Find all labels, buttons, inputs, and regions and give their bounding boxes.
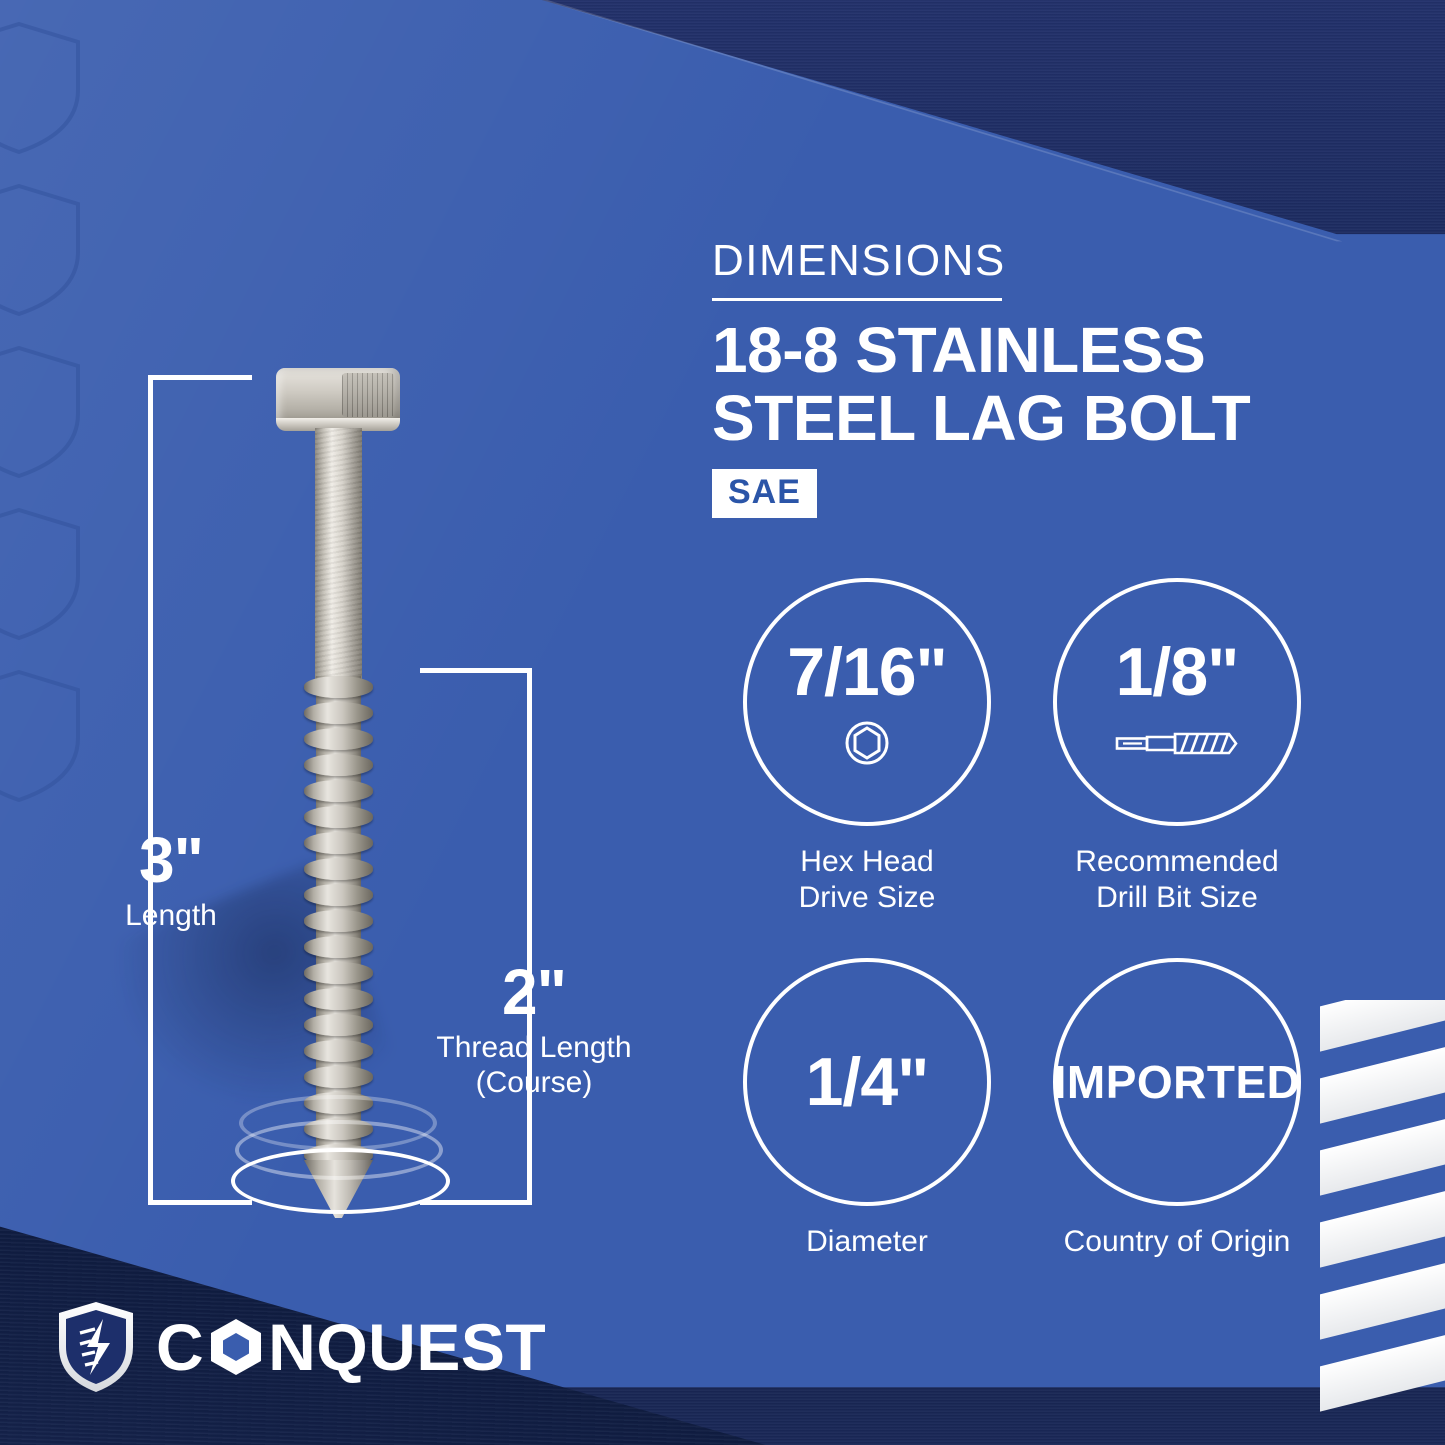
spec-circle: 7/16" <box>743 578 991 826</box>
product-title-line2: STEEL LAG BOLT <box>712 385 1312 453</box>
tip-highlight-rings <box>231 1095 446 1235</box>
shield-watermark-icon <box>0 504 84 644</box>
spec-recommended-drill-bit-size: 1/8" <box>1022 578 1332 916</box>
shield-watermark-icon <box>0 342 84 482</box>
shield-watermark-pattern <box>0 18 84 828</box>
spec-circle: IMPORTED <box>1053 958 1301 1206</box>
hex-socket-icon <box>844 720 890 766</box>
spec-caption-line1: Diameter <box>712 1224 1022 1260</box>
spec-value: IMPORTED <box>1054 1059 1301 1105</box>
brand-logo: C NQUEST <box>54 1299 546 1395</box>
spec-caption-line1: Country of Origin <box>1022 1224 1332 1260</box>
spec-grid: 7/16" Hex Head Drive Size 1/8" <box>712 578 1332 1260</box>
spec-circle: 1/8" <box>1053 578 1301 826</box>
infographic-canvas: 3" Length 2" Thread Length (Course) DIME… <box>0 0 1445 1445</box>
header-block: DIMENSIONS 18-8 STAINLESS STEEL LAG BOLT… <box>712 236 1312 518</box>
spec-hex-head-drive-size: 7/16" Hex Head Drive Size <box>712 578 1022 916</box>
spec-value: 1/4" <box>806 1048 929 1116</box>
spec-caption-line1: Hex Head <box>712 844 1022 880</box>
screw-shank <box>315 428 362 682</box>
drill-bit-icon <box>1115 720 1239 766</box>
shield-watermark-icon <box>0 180 84 320</box>
product-title-line1: 18-8 STAINLESS <box>712 317 1312 385</box>
thread-length-label: Thread Length <box>420 1030 648 1065</box>
length-label: Length <box>86 898 256 933</box>
thread-length-callout: 2" Thread Length (Course) <box>420 960 648 1101</box>
brand-name-part-1: C <box>156 1309 204 1385</box>
spec-country-of-origin: IMPORTED Country of Origin <box>1022 958 1332 1260</box>
shield-watermark-icon <box>0 666 84 806</box>
spec-diameter: 1/4" Diameter <box>712 958 1022 1260</box>
thread-length-sublabel: (Course) <box>420 1065 648 1100</box>
header-rule <box>712 298 1002 301</box>
lag-bolt-illustration <box>247 368 427 1218</box>
length-value: 3" <box>86 828 256 892</box>
brand-name-part-2: NQUEST <box>268 1309 546 1385</box>
brand-name: C NQUEST <box>156 1309 546 1385</box>
standard-badge: SAE <box>712 469 817 518</box>
shield-with-bolt-icon <box>54 1299 138 1395</box>
length-callout: 3" Length <box>86 828 256 933</box>
shield-watermark-icon <box>0 18 84 158</box>
spec-caption-line2: Drive Size <box>712 880 1022 916</box>
spec-caption-line2: Drill Bit Size <box>1022 880 1332 916</box>
length-dimension-bracket <box>148 375 252 1205</box>
eyebrow-label: DIMENSIONS <box>712 236 1312 286</box>
spec-caption-line1: Recommended <box>1022 844 1332 880</box>
thread-length-value: 2" <box>420 960 648 1024</box>
spec-circle: 1/4" <box>743 958 991 1206</box>
diagonal-stripe-accent <box>1320 1000 1445 1445</box>
spec-value: 7/16" <box>787 638 947 706</box>
spec-row: 1/4" Diameter IMPORTED Country of Origin <box>712 958 1332 1260</box>
spec-row: 7/16" Hex Head Drive Size 1/8" <box>712 578 1332 916</box>
spec-value: 1/8" <box>1116 638 1239 706</box>
thread-length-dimension-bracket <box>420 668 532 1205</box>
hexagon-o-icon <box>206 1316 266 1378</box>
